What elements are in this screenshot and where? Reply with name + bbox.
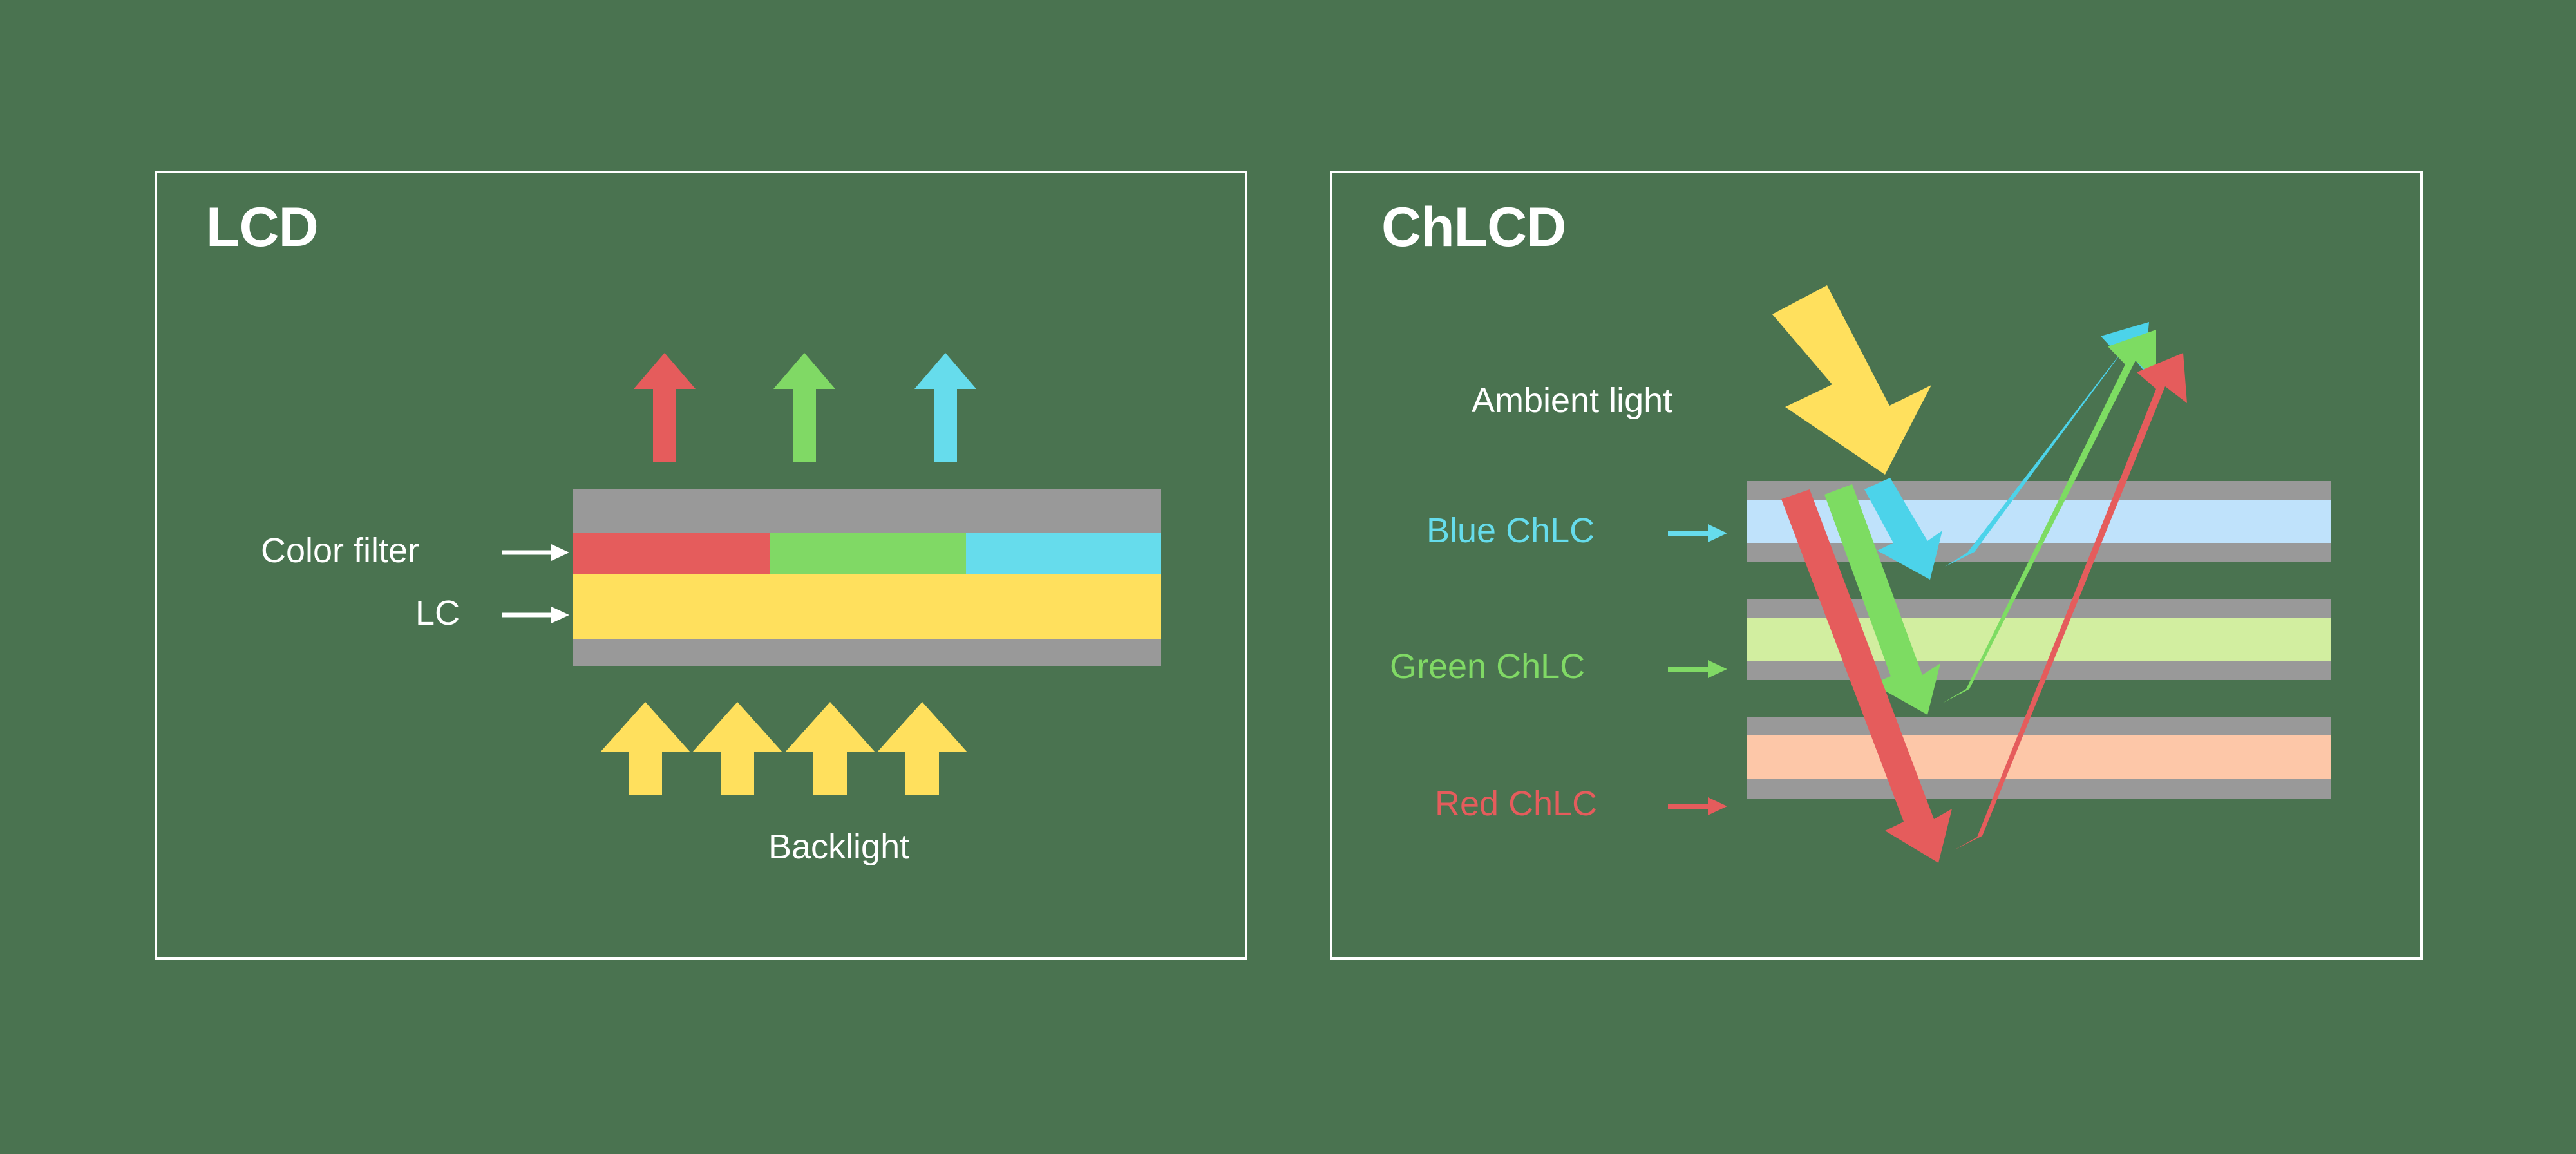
- label-blue-chlc: Blue ChLC: [1426, 513, 1595, 548]
- chlcd-layer-blue-bottom-electrode: [1747, 543, 2331, 562]
- chlcd-layer-green-chlc: [1747, 618, 2331, 661]
- lcd-layer-color-filter-red: [573, 533, 770, 574]
- label-green-chlc: Green ChLC: [1390, 649, 1585, 684]
- chlcd-layer-blue-chlc: [1747, 500, 2331, 543]
- panel-title-chlcd: ChLCD: [1381, 200, 1566, 255]
- chlcd-layer-green-bottom-electrode: [1747, 661, 2331, 680]
- panel-title-lcd: LCD: [206, 200, 318, 255]
- lcd-layer-liquid-crystal: [573, 574, 1161, 639]
- panel-chlcd: [1330, 171, 2423, 960]
- chlcd-layer-red-bottom-electrode: [1747, 779, 2331, 799]
- label-red-chlc: Red ChLC: [1435, 786, 1597, 821]
- lcd-layer-bottom-substrate: [573, 639, 1161, 666]
- chlcd-layer-red-top-electrode: [1747, 717, 2331, 735]
- label-backlight: Backlight: [768, 829, 909, 864]
- chlcd-layer-red-chlc: [1747, 735, 2331, 779]
- lcd-layer-top-substrate: [573, 489, 1161, 533]
- diagram-canvas: LCD Color filter LC Backlight ChLCD Ambi…: [0, 0, 2576, 1154]
- lcd-layer-color-filter-green: [770, 533, 966, 574]
- label-ambient-light: Ambient light: [1472, 383, 1672, 418]
- label-color-filter: Color filter: [261, 533, 419, 568]
- chlcd-layer-blue-top-electrode: [1747, 481, 2331, 500]
- lcd-layer-color-filter-blue: [966, 533, 1161, 574]
- label-lc: LC: [415, 596, 460, 630]
- chlcd-layer-green-top-electrode: [1747, 599, 2331, 618]
